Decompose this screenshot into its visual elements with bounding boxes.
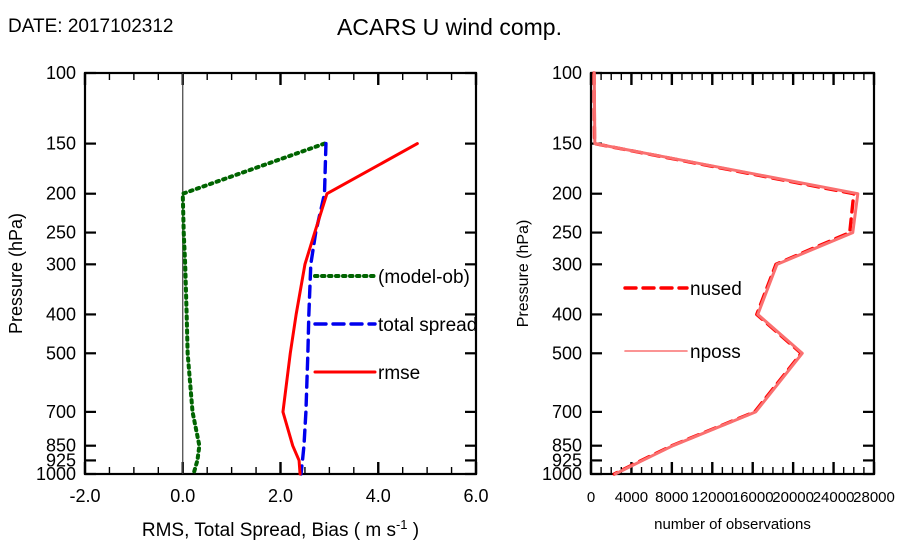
right-y-tick-label: 400 <box>552 304 582 324</box>
right-y-tick-label: 500 <box>552 343 582 363</box>
left-y-tick-label: 700 <box>46 402 76 422</box>
right-y-tick-label: 200 <box>552 184 582 204</box>
left-y-tick-label: 150 <box>46 134 76 154</box>
left-legend-label-rmse: rmse <box>378 363 420 384</box>
left-y-tick-label: 500 <box>46 343 76 363</box>
right-plot-frame <box>591 73 874 474</box>
right-y-tick-label: 700 <box>552 402 582 422</box>
chart-page: DATE: 2017102312 ACARS U wind comp. -2.0… <box>0 0 900 560</box>
left-legend-label-modelob: (model-ob) <box>378 267 470 288</box>
left-y-tick-label: 100 <box>46 63 76 83</box>
right-x-tick-label: 16000 <box>732 489 774 506</box>
right-y-tick-label: 250 <box>552 223 582 243</box>
right-y-axis-title: Pressure (hPa) <box>515 220 532 328</box>
left-y-tick-label: 200 <box>46 184 76 204</box>
right-y-tick-label: 300 <box>552 254 582 274</box>
right-legend-label-nused: nused <box>690 279 742 300</box>
left-series-totalspread <box>301 144 326 474</box>
left-y-tick-label: 300 <box>46 254 76 274</box>
right-x-tick-label: 20000 <box>772 489 814 506</box>
left-y-tick-label: 250 <box>46 223 76 243</box>
right-x-axis-title: number of observations <box>654 516 811 533</box>
right-x-tick-label: 4000 <box>615 489 648 506</box>
left-x-axis-title: RMS, Total Spread, Bias ( m s-1 ) <box>142 517 419 542</box>
right-y-tick-label: 1000 <box>542 464 582 484</box>
right-x-tick-label: 8000 <box>655 489 688 506</box>
left-y-tick-label: 1000 <box>36 464 76 484</box>
left-x-tick-label: -2.0 <box>69 486 100 506</box>
profile-plot-svg: -2.00.02.04.06.0100150200250300400500700… <box>0 0 900 560</box>
right-x-tick-label: 28000 <box>853 489 895 506</box>
right-x-tick-label: 12000 <box>691 489 733 506</box>
left-x-tick-label: 4.0 <box>366 486 391 506</box>
right-series-nposs <box>594 73 858 474</box>
right-series-nused <box>594 73 854 474</box>
left-y-tick-label: 400 <box>46 304 76 324</box>
right-x-tick-label: 24000 <box>813 489 855 506</box>
left-x-tick-label: 2.0 <box>268 486 293 506</box>
right-x-tick-label: 0 <box>587 489 595 506</box>
left-x-tick-label: 6.0 <box>463 486 488 506</box>
right-y-tick-label: 100 <box>552 63 582 83</box>
right-y-tick-label: 150 <box>552 134 582 154</box>
left-series-rmse <box>283 144 417 474</box>
left-y-axis-title: Pressure (hPa) <box>6 213 26 334</box>
left-series-modelob <box>183 144 325 474</box>
left-legend-label-totalspread: total spread <box>378 315 477 336</box>
left-x-tick-label: 0.0 <box>170 486 195 506</box>
right-legend-label-nposs: nposs <box>690 342 741 363</box>
